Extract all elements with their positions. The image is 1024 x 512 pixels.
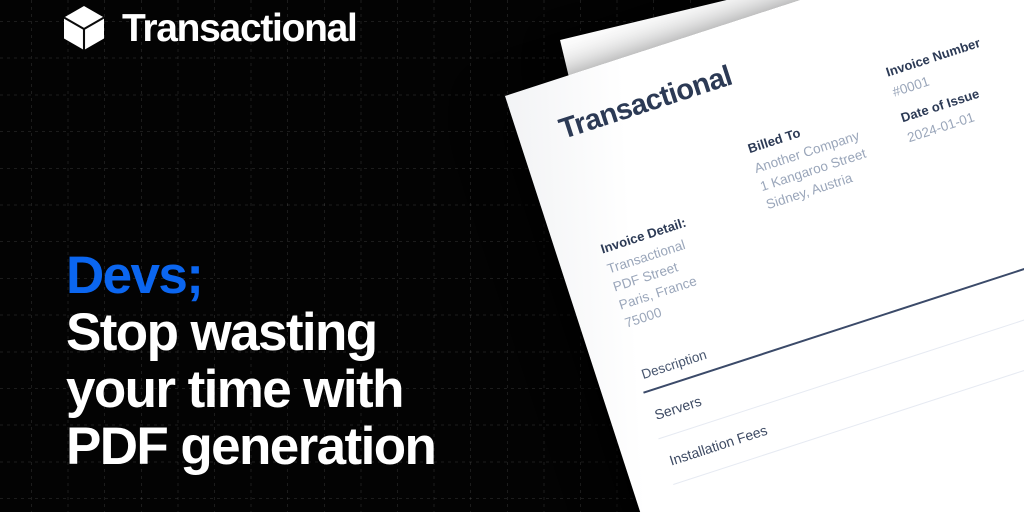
invoice-title: Transactional [555,60,736,147]
marketing-banner: Transactional Invoice Detail: Transactio… [0,0,1024,512]
invoice-detail-block: Invoice Detail: Transactional PDF Street… [599,215,713,333]
row-description: Servers [653,393,704,423]
brand-lockup[interactable]: Transactional [62,2,357,54]
brand-name: Transactional [122,9,357,48]
headline-line-2: Stop wasting [66,304,536,361]
invoice-front-sheet: Transactional Invoice Detail: Transactio… [505,0,1024,512]
billed-to-block: Billed To Another Company 1 Kangaroo Str… [746,108,875,214]
invoice-document: Transactional Invoice Detail: Transactio… [505,0,1024,512]
invoice-line-items-table: Description Quantity Servers 42 Installa… [636,196,1024,485]
headline-line-3: your time with [66,361,536,418]
cube-icon [62,5,106,51]
headline-accent-line: Devs; [66,247,536,304]
headline-line-4: PDF generation [66,418,536,475]
headline: Devs; Stop wasting your time with PDF ge… [66,247,536,475]
